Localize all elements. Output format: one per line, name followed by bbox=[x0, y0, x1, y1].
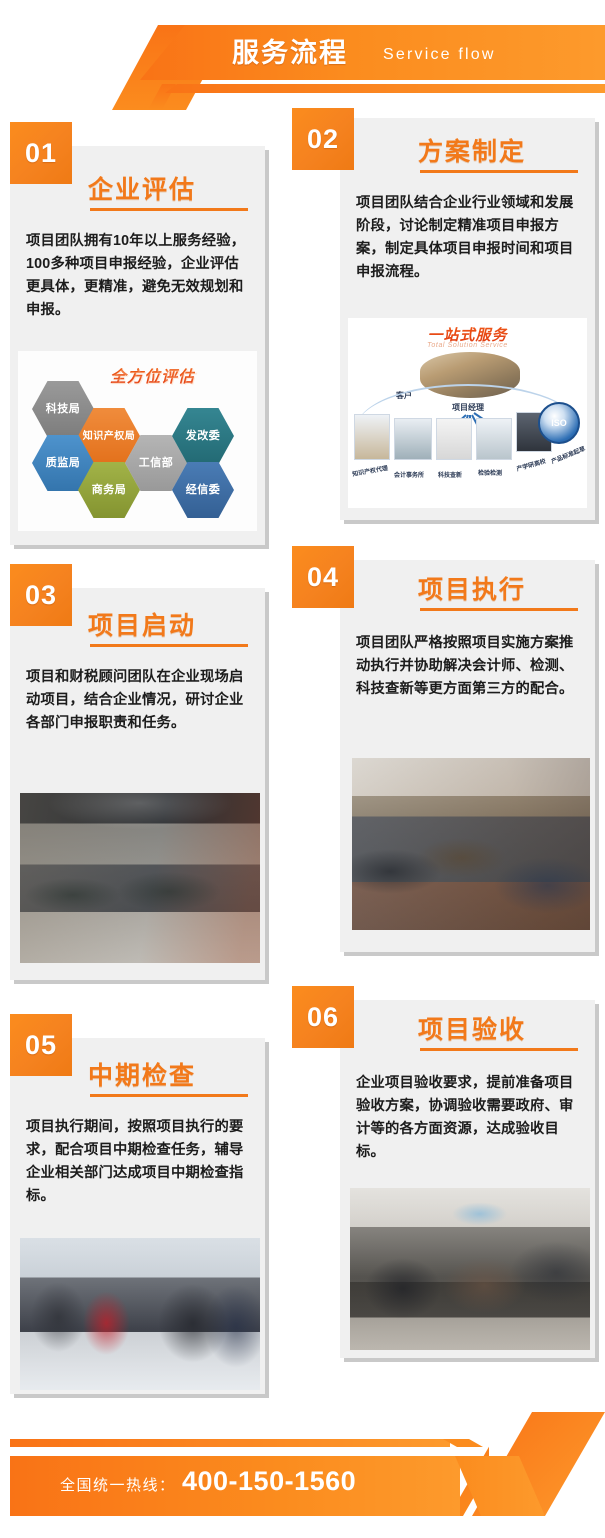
card-title: 方案制定 bbox=[418, 132, 526, 168]
title-underline bbox=[90, 1094, 248, 1097]
card-description: 企业项目验收要求，提前准备项目验收方案，协调验收需要政府、审计等的各方面资源，达… bbox=[356, 1072, 578, 1164]
card-number-badge: 01 bbox=[10, 122, 72, 184]
footer-thin-bar bbox=[10, 1439, 450, 1447]
one-stop-service-subtitle: Total Solution Service bbox=[427, 342, 508, 349]
title-underline bbox=[90, 644, 248, 647]
card-number-badge: 02 bbox=[292, 108, 354, 170]
photo-shading bbox=[352, 758, 590, 930]
process-card-01: 01 企业评估 项目团队拥有10年以上服务经验，100多种项目申报经验，企业评估… bbox=[10, 146, 265, 545]
page-footer: 全国统一热线： 400-150-1560 bbox=[0, 1398, 605, 1538]
header-thin-bar bbox=[165, 84, 605, 93]
card-title: 中期检查 bbox=[88, 1056, 196, 1092]
one-stop-service-diagram: 一站式服务 Total Solution Service 客户 项目经理 ISO… bbox=[348, 318, 587, 508]
photo-shading bbox=[20, 793, 260, 963]
card-number-badge: 05 bbox=[10, 1014, 72, 1076]
card-description: 项目团队严格按照项目实施方案推动执行并协助解决会计师、检测、科技查新等更方面第三… bbox=[356, 632, 578, 701]
card-photo-working-session bbox=[352, 758, 590, 930]
process-card-06: 06 项目验收 企业项目验收要求，提前准备项目验收方案，协调验收需要政府、审计等… bbox=[340, 1000, 595, 1358]
page-header: 服务流程 Service flow bbox=[0, 0, 605, 110]
title-underline bbox=[420, 608, 578, 611]
card-description: 项目团队结合企业行业领域和发展阶段，讨论制定精准项目申报方案，制定具体项目申报时… bbox=[356, 192, 578, 284]
card-photo-meeting-room bbox=[20, 793, 260, 963]
iso-seal-icon: ISO bbox=[538, 402, 580, 444]
hotline-label: 全国统一热线： bbox=[60, 1474, 176, 1495]
diagram-bottom-label: 会计事务所 bbox=[394, 470, 424, 479]
card-description: 项目团队拥有10年以上服务经验，100多种项目申报经验，企业评估更具体，更精准，… bbox=[26, 230, 248, 322]
service-flow-infographic: 服务流程 Service flow 01 企业评估 项目团队拥有10年以上服务经… bbox=[0, 0, 605, 1538]
card-number-badge: 06 bbox=[292, 986, 354, 1048]
diagram-node-icon bbox=[394, 418, 432, 460]
card-title: 项目验收 bbox=[418, 1010, 526, 1046]
process-card-04: 04 项目执行 项目团队严格按照项目实施方案推动执行并协助解决会计师、检测、科技… bbox=[340, 560, 595, 952]
card-description: 项目执行期间，按照项目执行的要求，配合项目中期检查任务，辅导企业相关部门达成项目… bbox=[26, 1116, 248, 1208]
hexagon-diagram-title: 全方位评估 bbox=[110, 363, 195, 387]
card-title: 项目启动 bbox=[88, 606, 196, 642]
process-card-03: 03 项目启动 项目和财税顾问团队在企业现场启动项目，结合企业情况，研讨企业各部… bbox=[10, 588, 265, 980]
photo-shading bbox=[20, 1238, 260, 1390]
diagram-node-icon bbox=[354, 414, 390, 460]
card-number-badge: 03 bbox=[10, 564, 72, 626]
diagram-bottom-label: 科技查新 bbox=[438, 470, 462, 479]
title-underline bbox=[420, 1048, 578, 1051]
page-subtitle: Service flow bbox=[383, 42, 496, 68]
diagram-bottom-label: 知识产权代理 bbox=[351, 463, 388, 478]
header-orange-bar bbox=[140, 25, 605, 80]
card-title: 项目执行 bbox=[418, 570, 526, 606]
process-card-05: 05 中期检查 项目执行期间，按照项目执行的要求，配合项目中期检查任务，辅导企业… bbox=[10, 1038, 265, 1394]
title-underline bbox=[420, 170, 578, 173]
diagram-node-icon bbox=[436, 418, 472, 460]
assessment-hexagon-diagram: 全方位评估 科技局 知识产权局 质监局 商务局 工信部 发改委 经信委 bbox=[18, 351, 257, 531]
title-underline bbox=[90, 208, 248, 211]
photo-shading bbox=[350, 1188, 590, 1350]
page-title: 服务流程 bbox=[232, 34, 348, 72]
process-card-02: 02 方案制定 项目团队结合企业行业领域和发展阶段，讨论制定精准项目申报方案，制… bbox=[340, 118, 595, 520]
diagram-node-icon bbox=[476, 418, 512, 460]
card-photo-lobby-visit bbox=[20, 1238, 260, 1390]
diagram-bottom-label: 检验检测 bbox=[478, 468, 502, 477]
card-number-badge: 04 bbox=[292, 546, 354, 608]
hotline-number[interactable]: 400-150-1560 bbox=[182, 1466, 356, 1497]
card-description: 项目和财税顾问团队在企业现场启动项目，结合企业情况，研讨企业各部门申报职责和任务… bbox=[26, 666, 248, 735]
card-title: 企业评估 bbox=[88, 170, 196, 206]
card-photo-conference-hall bbox=[350, 1188, 590, 1350]
